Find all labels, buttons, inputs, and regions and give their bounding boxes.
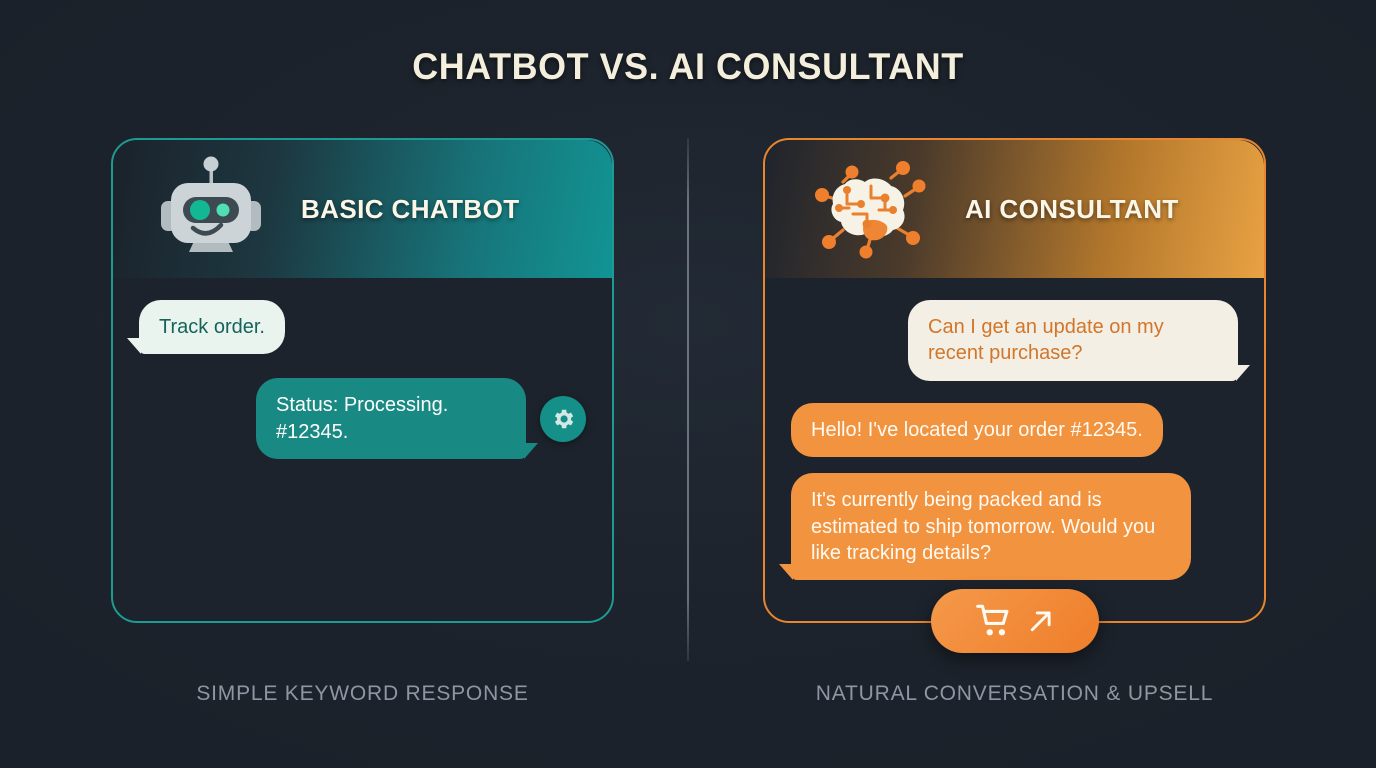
ai-consultant-header: AI CONSULTANT (765, 140, 1264, 278)
basic-chatbot-card: BASIC CHATBOT Track order. Status: Proce… (111, 138, 614, 623)
ai-consultant-title: AI CONSULTANT (965, 194, 1179, 225)
chat-bubble-user: Track order. (139, 300, 285, 354)
chat-bubble-user: Can I get an update on my recent purchas… (908, 300, 1238, 381)
chat-row-ai-2: It's currently being packed and is estim… (791, 473, 1238, 580)
ai-consultant-card-inner: AI CONSULTANT Can I get an update on my … (765, 140, 1264, 621)
basic-chatbot-chat-area: Track order. Status: Processing. #12345. (113, 278, 612, 621)
chat-bubble-bot: Status: Processing. #12345. (256, 378, 526, 459)
chat-bubble-ai-first: Hello! I've located your order #12345. (791, 403, 1163, 457)
left-caption: SIMPLE KEYWORD RESPONSE (111, 682, 614, 706)
chat-bubble-ai-second: It's currently being packed and is estim… (791, 473, 1191, 580)
basic-chatbot-card-inner: BASIC CHATBOT Track order. Status: Proce… (113, 140, 612, 621)
ai-consultant-card: AI CONSULTANT Can I get an update on my … (763, 138, 1266, 623)
chat-row-bot: Status: Processing. #12345. (139, 378, 586, 459)
vertical-divider (687, 138, 689, 661)
basic-chatbot-title: BASIC CHATBOT (301, 194, 519, 225)
diagram-canvas: CHATBOT VS. AI CONSULTANT (0, 0, 1376, 768)
basic-chatbot-header: BASIC CHATBOT (113, 140, 612, 278)
chat-row-user: Track order. (139, 300, 586, 354)
ai-consultant-chat-area: Can I get an update on my recent purchas… (765, 278, 1264, 621)
upsell-cart-button[interactable] (931, 589, 1099, 653)
right-caption: NATURAL CONVERSATION & UPSELL (763, 682, 1266, 706)
gear-icon (540, 396, 586, 442)
arrow-up-right-icon (1026, 606, 1056, 636)
chat-row-user: Can I get an update on my recent purchas… (791, 300, 1238, 381)
shopping-cart-icon (974, 603, 1016, 639)
chat-row-ai-1: Hello! I've located your order #12345. (791, 403, 1238, 457)
brain-circuit-icon (809, 152, 929, 267)
page-title: CHATBOT VS. AI CONSULTANT (21, 46, 1356, 88)
robot-icon (157, 155, 265, 264)
